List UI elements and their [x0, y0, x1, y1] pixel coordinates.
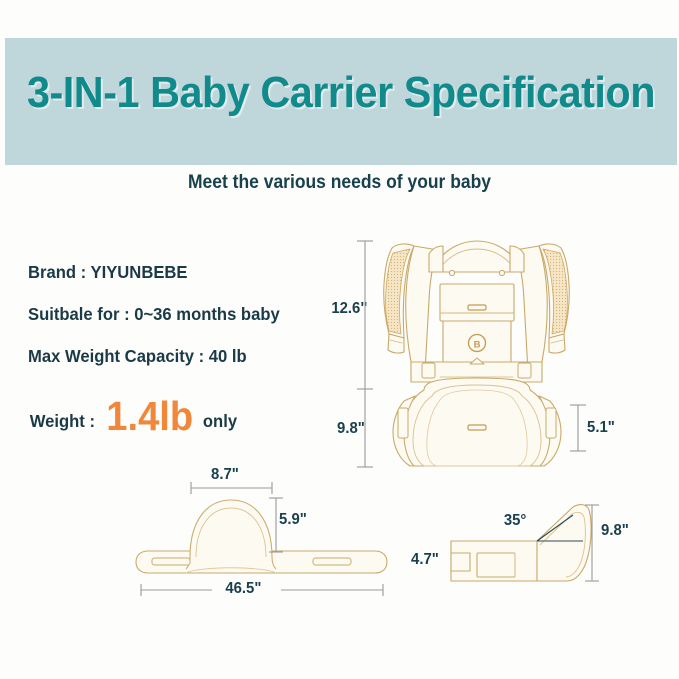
side-view-dimension-lines: [537, 515, 583, 541]
spec-max-weight-capacity: Max Weight Capacity : 40 lb: [28, 346, 313, 367]
dimension-label-side-seat-height: 9.8": [601, 522, 629, 540]
dimension-label-hipseat-depth: 5.1": [587, 419, 615, 437]
waist-belt-top-view-illustration: [136, 500, 387, 573]
svg-text:B: B: [474, 340, 481, 351]
dimension-label-belt-seat-width: 8.7": [211, 466, 239, 484]
dimension-label-belt-total-width: 46.5": [225, 580, 261, 598]
carrier-dimension-lines: [357, 241, 586, 467]
carrier-front-view-illustration: B: [384, 241, 570, 466]
spec-suitable-age: Suitbale for : 0~36 months baby: [28, 304, 313, 325]
weight-suffix: only: [203, 411, 237, 432]
spec-sheet-page: 3-IN-1 Baby Carrier Specification Meet t…: [0, 0, 679, 679]
side-view-measure-lines: [585, 505, 599, 581]
page-title: 3-IN-1 Baby Carrier Specification: [25, 68, 657, 118]
belt-dimension-lines: [141, 482, 383, 596]
weight-value: 1.4lb: [106, 398, 193, 435]
dimension-label-side-seat-width: 4.7": [411, 551, 439, 569]
weight-label: Weight :: [30, 411, 95, 432]
dimension-label-belt-seat-height: 5.9": [279, 511, 307, 529]
dimension-label-side-seat-angle: 35°: [504, 512, 527, 530]
dimension-label-carrier-lower: 9.8": [337, 420, 365, 438]
subtitle: Meet the various needs of your baby: [27, 172, 652, 194]
specification-list: Brand : YIYUNBEBE Suitbale for : 0~36 mo…: [28, 262, 328, 388]
dimension-label-carrier-upper: 12.6": [331, 300, 367, 318]
spec-product-weight: Weight : 1.4lb only: [28, 395, 238, 432]
spec-brand: Brand : YIYUNBEBE: [28, 262, 313, 283]
title-banner: 3-IN-1 Baby Carrier Specification: [5, 38, 677, 165]
